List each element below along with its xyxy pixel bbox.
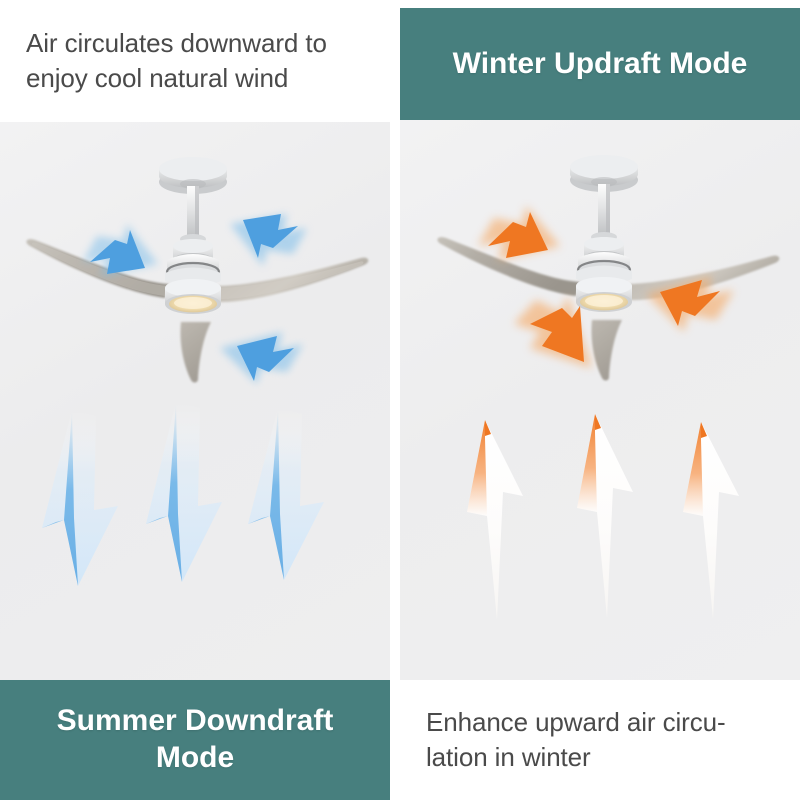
summer-mode-panel: Air circulates downward to enjoy cool na… [0, 0, 390, 800]
ceiling-fan-icon [420, 134, 780, 384]
summer-mode-title: Summer Downdraft Mode [0, 680, 390, 800]
comparison-infographic: Air circulates downward to enjoy cool na… [0, 0, 800, 800]
winter-description-bottom: Enhance upward air circu-lation in winte… [400, 680, 800, 800]
winter-mode-title: Winter Updraft Mode [400, 8, 800, 120]
summer-illustration [0, 122, 390, 680]
summer-description-top: Air circulates downward to enjoy cool na… [0, 0, 390, 122]
airflow-down-arrow-icon [30, 410, 360, 640]
winter-illustration [400, 120, 800, 680]
winter-mode-panel: Winter Updraft Mode [400, 0, 800, 800]
airflow-up-arrow-icon [435, 410, 765, 640]
ceiling-fan-icon [15, 136, 375, 386]
